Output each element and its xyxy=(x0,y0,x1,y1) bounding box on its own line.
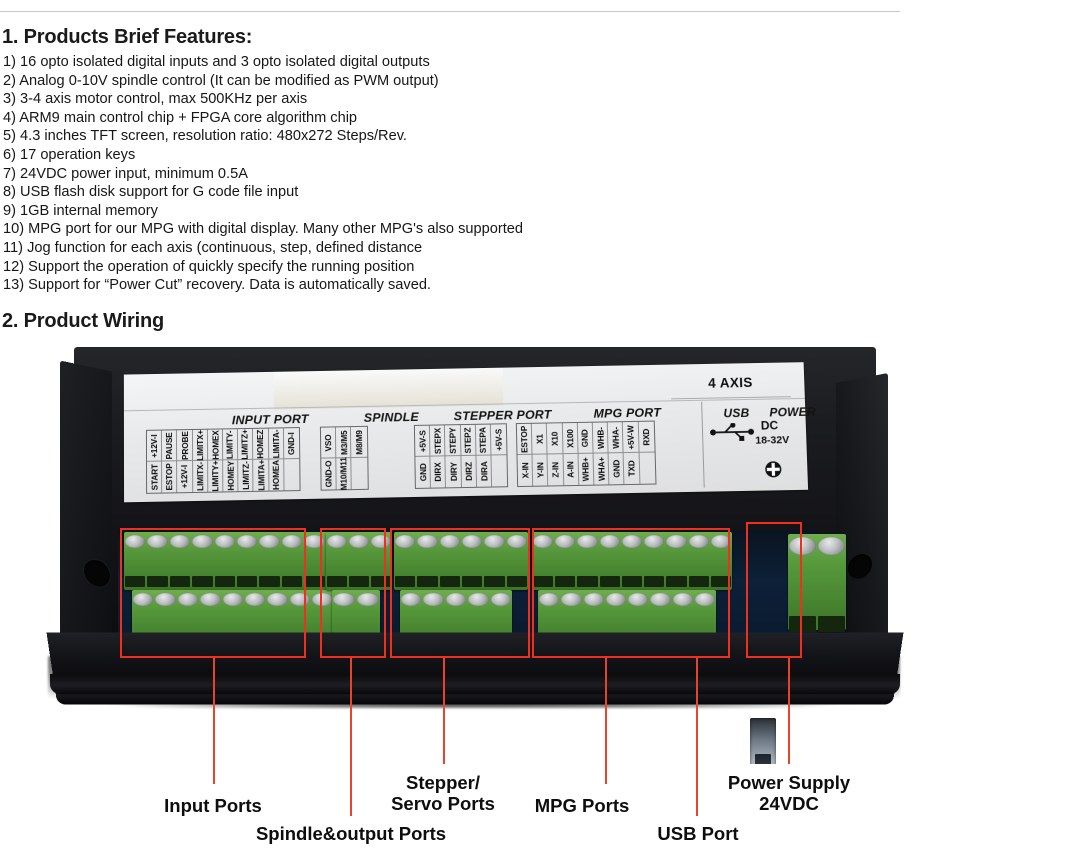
pin-label-text: VSO xyxy=(324,434,333,451)
pin-column: PROBE+12V-I xyxy=(177,430,192,492)
pin-label-top: HOMEZ xyxy=(253,429,268,460)
pin-label-bottom: WHA+ xyxy=(593,453,609,484)
pin-label-bottom: X-IN xyxy=(517,455,533,486)
pin-label-text: LIMITZ- xyxy=(241,461,250,490)
spindle-port-heading: SPINDLE xyxy=(364,410,419,425)
pin-label-text: LIMITA+ xyxy=(257,460,266,491)
pin-label-top: HOMEX xyxy=(208,429,223,460)
stepper-port-heading: STEPPER PORT xyxy=(454,408,552,424)
highlight-power-terminal xyxy=(746,522,802,658)
pin-column: GND-I xyxy=(284,428,300,490)
leader-spindle-ports xyxy=(350,658,352,816)
pin-label-top: M8/M9 xyxy=(351,427,367,458)
pin-label-top: +5V-S xyxy=(415,426,431,457)
pin-label-text: M10/M11 xyxy=(340,457,349,490)
wiring-section-title: 2. Product Wiring xyxy=(2,310,164,333)
leader-power-supply xyxy=(788,658,790,764)
highlight-stepper-ports xyxy=(390,528,530,658)
callout-power-line2: 24VDC xyxy=(707,793,871,814)
pin-label-top: LIMITY- xyxy=(223,429,238,460)
pin-label-text: WHB+ xyxy=(581,457,591,481)
pin-label-bottom: START xyxy=(147,462,162,493)
pin-label-text: RXD xyxy=(642,428,651,445)
pin-label-text: LIMITX- xyxy=(196,462,205,491)
site-watermark: ddcnc.en.alibaba.com xyxy=(354,762,656,764)
stepper-port-pin-grid: +5V-SGNDSTEPXDIRXSTEPYDIRYSTEPZDIRZSTEPA… xyxy=(414,423,508,489)
feature-item: 6) 17 operation keys xyxy=(3,146,703,165)
highlight-mpg-ports xyxy=(532,528,730,658)
highlight-input-ports xyxy=(120,528,306,658)
pin-label-text: ESTOP xyxy=(520,425,530,452)
pin-label-bottom: HOMEY xyxy=(223,460,238,491)
pin-column: WHB-WHA+ xyxy=(593,422,610,484)
pin-label-text: WHB- xyxy=(596,427,606,449)
callout-input-ports: Input Ports xyxy=(133,795,293,816)
pin-label-bottom: LIMITA+ xyxy=(253,460,268,491)
pin-label-top: GND xyxy=(578,423,594,454)
callout-stepper-line2: Servo Ports xyxy=(363,793,523,814)
axis-badge: 4 AXIS xyxy=(670,367,791,399)
features-section-title: 1. Products Brief Features: xyxy=(2,26,252,49)
pin-label-top: X1 xyxy=(532,424,548,455)
pin-label-bottom: DIRY xyxy=(446,456,462,487)
mpg-port-pin-grid: ESTOPX-INX1Y-INX10Z-INX100A-INGNDWHB+WHB… xyxy=(516,421,656,488)
pin-label-text: +5V-S xyxy=(494,428,503,450)
pin-column: STEPXDIRX xyxy=(430,425,446,487)
pin-label-text: HOMEY xyxy=(226,461,235,491)
pin-label-text: HOMEX xyxy=(211,430,220,460)
pin-label-text: +12V-I xyxy=(150,434,159,457)
feature-item: 9) 1GB internal memory xyxy=(3,202,703,221)
callout-power-line1: Power Supply xyxy=(707,772,871,793)
pin-label-bottom: WHB+ xyxy=(578,454,594,485)
pin-label-text: X1 xyxy=(535,434,544,444)
pin-label-bottom: A-IN xyxy=(563,454,579,485)
pin-label-text: M3/M5 xyxy=(339,430,348,455)
pin-label-bottom: GND xyxy=(609,453,625,484)
pin-label-bottom: DIRZ xyxy=(461,456,477,487)
pin-label-text: STEPZ xyxy=(464,427,473,453)
callout-stepper-line1: Stepper/ xyxy=(363,772,523,793)
pin-label-top: PROBE xyxy=(177,430,192,461)
pin-label-top: LIMITX+ xyxy=(193,430,208,461)
pin-label-text: X100 xyxy=(566,429,575,448)
device-printed-label: 4 AXIS INPUT PORT SPINDLE STEPPER PORT M… xyxy=(124,362,808,502)
pin-label-text: Y-IN xyxy=(536,462,545,478)
dc-label: DC xyxy=(761,418,779,432)
pin-label-bottom: GND-O xyxy=(321,458,337,489)
pin-label-top: WHA- xyxy=(608,422,624,453)
pin-label-top: STEPA xyxy=(476,425,492,456)
mounting-hole-left xyxy=(82,559,111,587)
pin-label-top: M3/M5 xyxy=(336,427,352,458)
leader-input-ports xyxy=(213,658,215,784)
pin-label-top: WHB- xyxy=(593,422,609,453)
pin-label-text: DIRZ xyxy=(464,462,473,481)
pin-column: HOMEZLIMITA+ xyxy=(253,429,269,491)
pin-label-top: +12V-I xyxy=(147,431,162,462)
pin-column: HOMEXLIMITY+ xyxy=(208,429,224,491)
pin-column: STEPADIRA xyxy=(476,425,492,487)
pin-label-top: PAUSE xyxy=(162,430,177,461)
callout-mpg-ports: MPG Ports xyxy=(513,795,651,816)
pin-label-text: DIRY xyxy=(449,462,458,481)
pin-label-text: WHA- xyxy=(611,426,621,448)
pin-column: LIMITX+LIMITX- xyxy=(193,430,209,492)
pin-label-text: WHA+ xyxy=(597,457,607,481)
feature-item: 7) 24VDC power input, minimum 0.5A xyxy=(3,165,703,184)
pin-label-text: LIMITX+ xyxy=(196,429,205,460)
pin-column: ESTOPX-IN xyxy=(517,424,534,486)
pin-label-text: LIMITY- xyxy=(226,430,235,459)
spindle-port-pin-grid: VSOGND-OM3/M5M10/M11M8/M9 xyxy=(320,426,368,491)
pin-column: GNDWHB+ xyxy=(578,423,595,485)
pin-label-text: A-IN xyxy=(566,461,575,478)
pin-label-text: LIMITZ+ xyxy=(241,429,250,460)
pin-label-bottom: DIRX xyxy=(431,456,447,487)
pin-label-bottom: LIMITZ- xyxy=(238,460,253,491)
pin-label-bottom xyxy=(491,455,507,486)
pin-label-text: START xyxy=(150,464,159,490)
pin-column: M8/M9 xyxy=(351,427,367,489)
pin-column: LIMITY-HOMEY xyxy=(223,429,239,491)
product-spec-page: 1. Products Brief Features: 1) 16 opto i… xyxy=(0,0,1082,866)
callout-stepper-ports: Stepper/ Servo Ports xyxy=(363,772,523,814)
pin-column: WHA-GND xyxy=(608,422,625,484)
pin-column: +5V-SGND xyxy=(415,426,431,488)
pin-column: +12V-ISTART xyxy=(147,431,162,493)
product-wiring-photo: 4 AXIS INPUT PORT SPINDLE STEPPER PORT M… xyxy=(46,344,926,764)
feature-item: 5) 4.3 inches TFT screen, resolution rat… xyxy=(3,127,703,146)
pin-column: STEPYDIRY xyxy=(445,425,461,487)
feature-item: 4) ARM9 main control chip + FPGA core al… xyxy=(3,109,703,128)
pin-column: STEPZDIRZ xyxy=(460,425,476,487)
pin-label-text: TXD xyxy=(627,460,636,476)
screw-terminal-icon xyxy=(764,460,783,478)
pin-column: LIMITA-HOMEA xyxy=(268,428,284,490)
pin-label-text: X10 xyxy=(550,431,559,445)
pin-label-text: DIRX xyxy=(434,462,443,481)
pin-label-bottom: DIRA xyxy=(476,455,492,486)
pin-label-top: +5V-S xyxy=(491,424,507,455)
pin-label-top: VSO xyxy=(321,427,337,458)
usb-icon xyxy=(709,423,758,442)
pin-label-text: +12V-I xyxy=(181,465,190,489)
feature-item: 10) MPG port for our MPG with digital di… xyxy=(3,220,703,239)
highlight-spindle-ports xyxy=(320,528,386,658)
usb-power-label-block: DC 18-32V xyxy=(701,400,796,488)
pin-column: LIMITZ+LIMITZ- xyxy=(238,429,254,491)
pin-label-bottom xyxy=(352,458,368,489)
pin-label-bottom: HOMEA xyxy=(269,459,284,490)
callout-power-supply: Power Supply 24VDC xyxy=(707,772,871,814)
pin-label-bottom xyxy=(639,453,655,484)
pin-label-top: ESTOP xyxy=(517,424,533,455)
pin-label-top: LIMITA- xyxy=(268,428,283,459)
pin-label-text: +5V-W xyxy=(626,425,636,449)
feature-item: 13) Support for “Power Cut” recovery. Da… xyxy=(3,276,703,295)
pin-label-text: STEPA xyxy=(479,426,489,452)
pin-label-text: STEPX xyxy=(433,427,442,453)
pin-label-text: GND xyxy=(419,463,428,481)
pin-label-text: +5V-S xyxy=(418,430,427,452)
top-divider xyxy=(0,11,900,12)
pin-column: +5V-WTXD xyxy=(623,422,640,484)
pin-label-text: GND-O xyxy=(324,460,333,487)
pin-label-top: GND-I xyxy=(284,428,299,459)
pin-column: X10Z-IN xyxy=(547,423,564,485)
pin-label-bottom: LIMITX- xyxy=(193,461,208,492)
pin-label-text: LIMITY+ xyxy=(211,460,220,491)
pin-column: X1Y-IN xyxy=(532,424,549,486)
pin-label-bottom: +12V-I xyxy=(177,461,192,492)
pin-column: X100A-IN xyxy=(562,423,579,485)
mounting-hole-right xyxy=(846,554,873,580)
pin-label-text: PROBE xyxy=(180,431,189,460)
feature-item: 3) 3-4 axis motor control, max 500KHz pe… xyxy=(3,90,703,109)
feature-item: 12) Support the operation of quickly spe… xyxy=(3,258,703,277)
pin-label-bottom: LIMITY+ xyxy=(208,460,223,491)
pin-column: M3/M5M10/M11 xyxy=(336,427,352,489)
pin-label-text: ESTOP xyxy=(165,463,174,490)
leader-usb-port xyxy=(696,658,698,816)
dc-voltage-label: 18-32V xyxy=(755,434,789,447)
pin-label-text: STEPY xyxy=(448,427,457,453)
pin-label-text: M8/M9 xyxy=(354,430,363,455)
pin-label-top: STEPZ xyxy=(460,425,476,456)
pin-label-text: PAUSE xyxy=(165,432,174,459)
pin-label-top: STEPY xyxy=(445,425,461,456)
pin-label-bottom: Y-IN xyxy=(533,454,549,485)
feature-item: 2) Analog 0-10V spindle control (It can … xyxy=(3,72,703,91)
pin-label-text: HOMEA xyxy=(272,460,281,490)
pin-label-top: +5V-W xyxy=(623,422,639,453)
device-base-lip xyxy=(50,674,900,694)
pin-label-bottom: TXD xyxy=(624,453,640,484)
pin-label-top: LIMITZ+ xyxy=(238,429,253,460)
pin-label-bottom: ESTOP xyxy=(162,461,177,492)
pin-label-text: DIRA xyxy=(479,461,488,481)
input-port-pin-grid: +12V-ISTARTPAUSEESTOPPROBE+12V-ILIMITX+L… xyxy=(146,427,301,494)
pin-label-text: Z-IN xyxy=(551,462,560,478)
pin-label-text: LIMITA- xyxy=(272,429,281,458)
features-list: 1) 16 opto isolated digital inputs and 3… xyxy=(3,53,703,295)
pin-label-top: X100 xyxy=(562,423,578,454)
leader-mpg-ports xyxy=(605,658,607,784)
leader-stepper-ports xyxy=(443,658,445,764)
pin-label-text: GND-I xyxy=(287,432,296,455)
pin-label-text: X-IN xyxy=(521,462,530,478)
pin-label-text: GND xyxy=(581,429,590,447)
feature-item: 1) 16 opto isolated digital inputs and 3… xyxy=(3,53,703,72)
pin-label-top: X10 xyxy=(547,423,563,454)
pin-column: PAUSEESTOP xyxy=(162,430,177,492)
pin-label-text: GND xyxy=(612,460,621,478)
mpg-port-heading: MPG PORT xyxy=(593,406,661,421)
usb-connector xyxy=(750,718,776,764)
pin-column: VSOGND-O xyxy=(321,427,337,489)
pin-column: RXD xyxy=(638,422,655,484)
pin-label-bottom xyxy=(284,459,300,490)
callout-usb-port: USB Port xyxy=(637,823,759,844)
pin-label-bottom: Z-IN xyxy=(548,454,564,485)
pin-column: +5V-S xyxy=(491,424,507,486)
pin-label-bottom: M10/M11 xyxy=(336,458,352,489)
pin-label-top: RXD xyxy=(638,422,654,453)
pin-label-top: STEPX xyxy=(430,425,446,456)
feature-item: 11) Jog function for each axis (continuo… xyxy=(3,239,703,258)
callout-spindle-ports: Spindle&output Ports xyxy=(238,823,464,844)
pin-label-text: HOMEZ xyxy=(256,429,265,458)
input-port-heading: INPUT PORT xyxy=(232,412,309,427)
feature-item: 8) USB flash disk support for G code fil… xyxy=(3,183,703,202)
pin-label-bottom: GND xyxy=(415,457,431,488)
